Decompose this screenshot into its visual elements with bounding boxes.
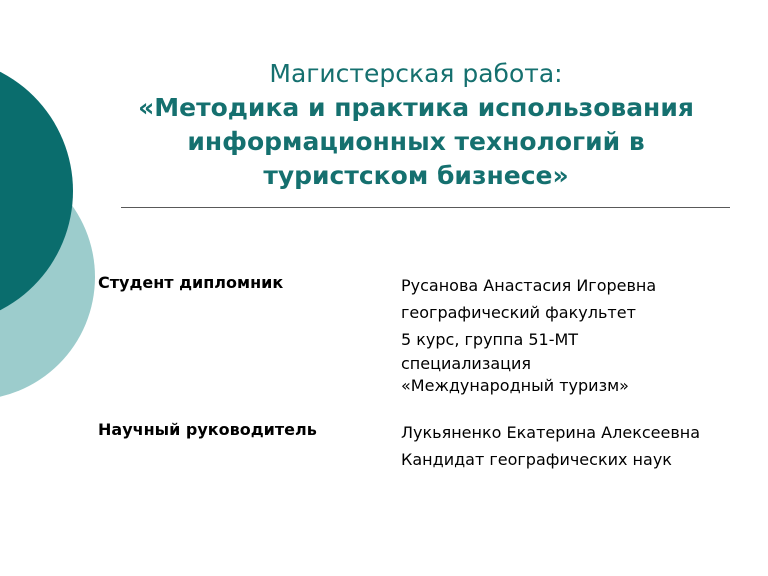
presentation-slide: Магистерская работа: «Методика и практик… xyxy=(0,0,768,576)
supervisor-name: Лукьяненко Екатерина Алексеевна xyxy=(401,419,700,446)
student-label: Студент дипломник xyxy=(98,272,401,294)
title-divider xyxy=(121,207,730,208)
student-course-group: 5 курс, группа 51-МТ xyxy=(401,326,656,353)
decorative-circle-dark xyxy=(0,57,73,325)
supervisor-row: Научный руководитель Лукьяненко Екатерин… xyxy=(98,419,700,473)
supervisor-label: Научный руководитель xyxy=(98,419,401,441)
student-specialization-label: специализация xyxy=(401,353,656,375)
student-name: Русанова Анастасия Игоревна xyxy=(401,272,656,299)
title-line-1: Магистерская работа: xyxy=(118,57,714,91)
student-faculty: географический факультет xyxy=(401,299,656,326)
supervisor-values: Лукьяненко Екатерина Алексеевна Кандидат… xyxy=(401,419,700,473)
title-line-4: туристском бизнесе» xyxy=(118,159,714,193)
title-line-2: «Методика и практика использования xyxy=(118,91,714,125)
slide-title: Магистерская работа: «Методика и практик… xyxy=(118,57,714,193)
student-row: Студент дипломник Русанова Анастасия Иго… xyxy=(98,272,656,397)
student-specialization-name: «Международный туризм» xyxy=(401,375,656,397)
decorative-circle-light xyxy=(0,154,95,400)
title-line-3: информационных технологий в xyxy=(118,125,714,159)
student-values: Русанова Анастасия Игоревна географическ… xyxy=(401,272,656,397)
supervisor-degree: Кандидат географических наук xyxy=(401,446,700,473)
